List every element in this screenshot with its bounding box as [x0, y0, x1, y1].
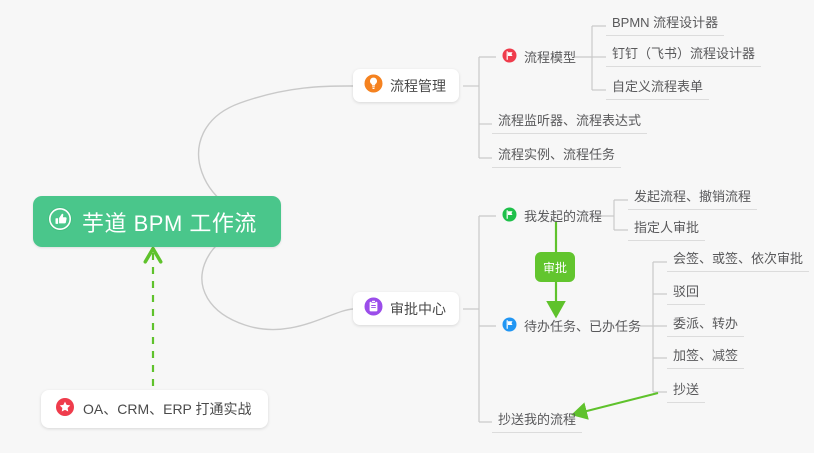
branch-node-process-management[interactable]: 流程管理: [353, 69, 459, 102]
leaf-dingtalk-designer[interactable]: 钉钉（飞书）流程设计器: [606, 43, 761, 67]
leaf-reject[interactable]: 驳回: [667, 281, 705, 305]
leaf-bpmn-designer[interactable]: BPMN 流程设计器: [606, 12, 724, 36]
integration-label: OA、CRM、ERP 打通实战: [83, 399, 252, 419]
node-label-process-model: 流程模型: [524, 47, 576, 66]
integration-node[interactable]: OA、CRM、ERP 打通实战: [41, 390, 268, 428]
leaf-custom-form[interactable]: 自定义流程表单: [606, 76, 709, 100]
annotation-tag-approval: 审批: [535, 252, 575, 282]
leaf-listener-expression[interactable]: 流程监听器、流程表达式: [492, 110, 647, 134]
leaf-start-cancel-process[interactable]: 发起流程、撤销流程: [628, 186, 757, 210]
annotation-arrow-cc: [575, 393, 658, 414]
leaf-assignee-approval[interactable]: 指定人审批: [628, 217, 705, 241]
leaf-cc-to-me[interactable]: 抄送我的流程: [492, 409, 582, 433]
branch-node-approval-center[interactable]: 审批中心: [353, 292, 459, 325]
node-label-todo-done-tasks: 待办任务、已办任务: [524, 316, 641, 335]
annotation-tag-approval-label: 审批: [543, 259, 567, 276]
flag-icon: [502, 207, 517, 225]
leaf-add-remove-sign[interactable]: 加签、减签: [667, 345, 744, 369]
thumbs-up-icon: [47, 206, 73, 237]
leaf-carbon-copy[interactable]: 抄送: [667, 379, 705, 403]
lightbulb-icon: [364, 74, 383, 98]
branch-label-process-management: 流程管理: [390, 76, 446, 96]
node-label-my-started-process: 我发起的流程: [524, 206, 602, 225]
branch-label-approval-center: 审批中心: [390, 299, 446, 319]
leaf-countersign[interactable]: 会签、或签、依次审批: [667, 248, 809, 272]
leaf-instance-task[interactable]: 流程实例、流程任务: [492, 144, 621, 168]
node-my-started-process[interactable]: 我发起的流程: [496, 206, 608, 225]
node-todo-done-tasks[interactable]: 待办任务、已办任务: [496, 316, 647, 335]
mindmap-canvas: 芋道 BPM 工作流 OA、CRM、ERP 打通实战 流程管理: [0, 0, 814, 453]
root-node[interactable]: 芋道 BPM 工作流: [33, 196, 281, 247]
node-process-model[interactable]: 流程模型: [496, 47, 582, 66]
leaf-delegate-transfer[interactable]: 委派、转办: [667, 313, 744, 337]
flag-icon: [502, 48, 517, 66]
star-icon: [55, 397, 75, 422]
root-label: 芋道 BPM 工作流: [82, 206, 257, 238]
clipboard-icon: [364, 297, 383, 321]
flag-icon: [502, 317, 517, 335]
